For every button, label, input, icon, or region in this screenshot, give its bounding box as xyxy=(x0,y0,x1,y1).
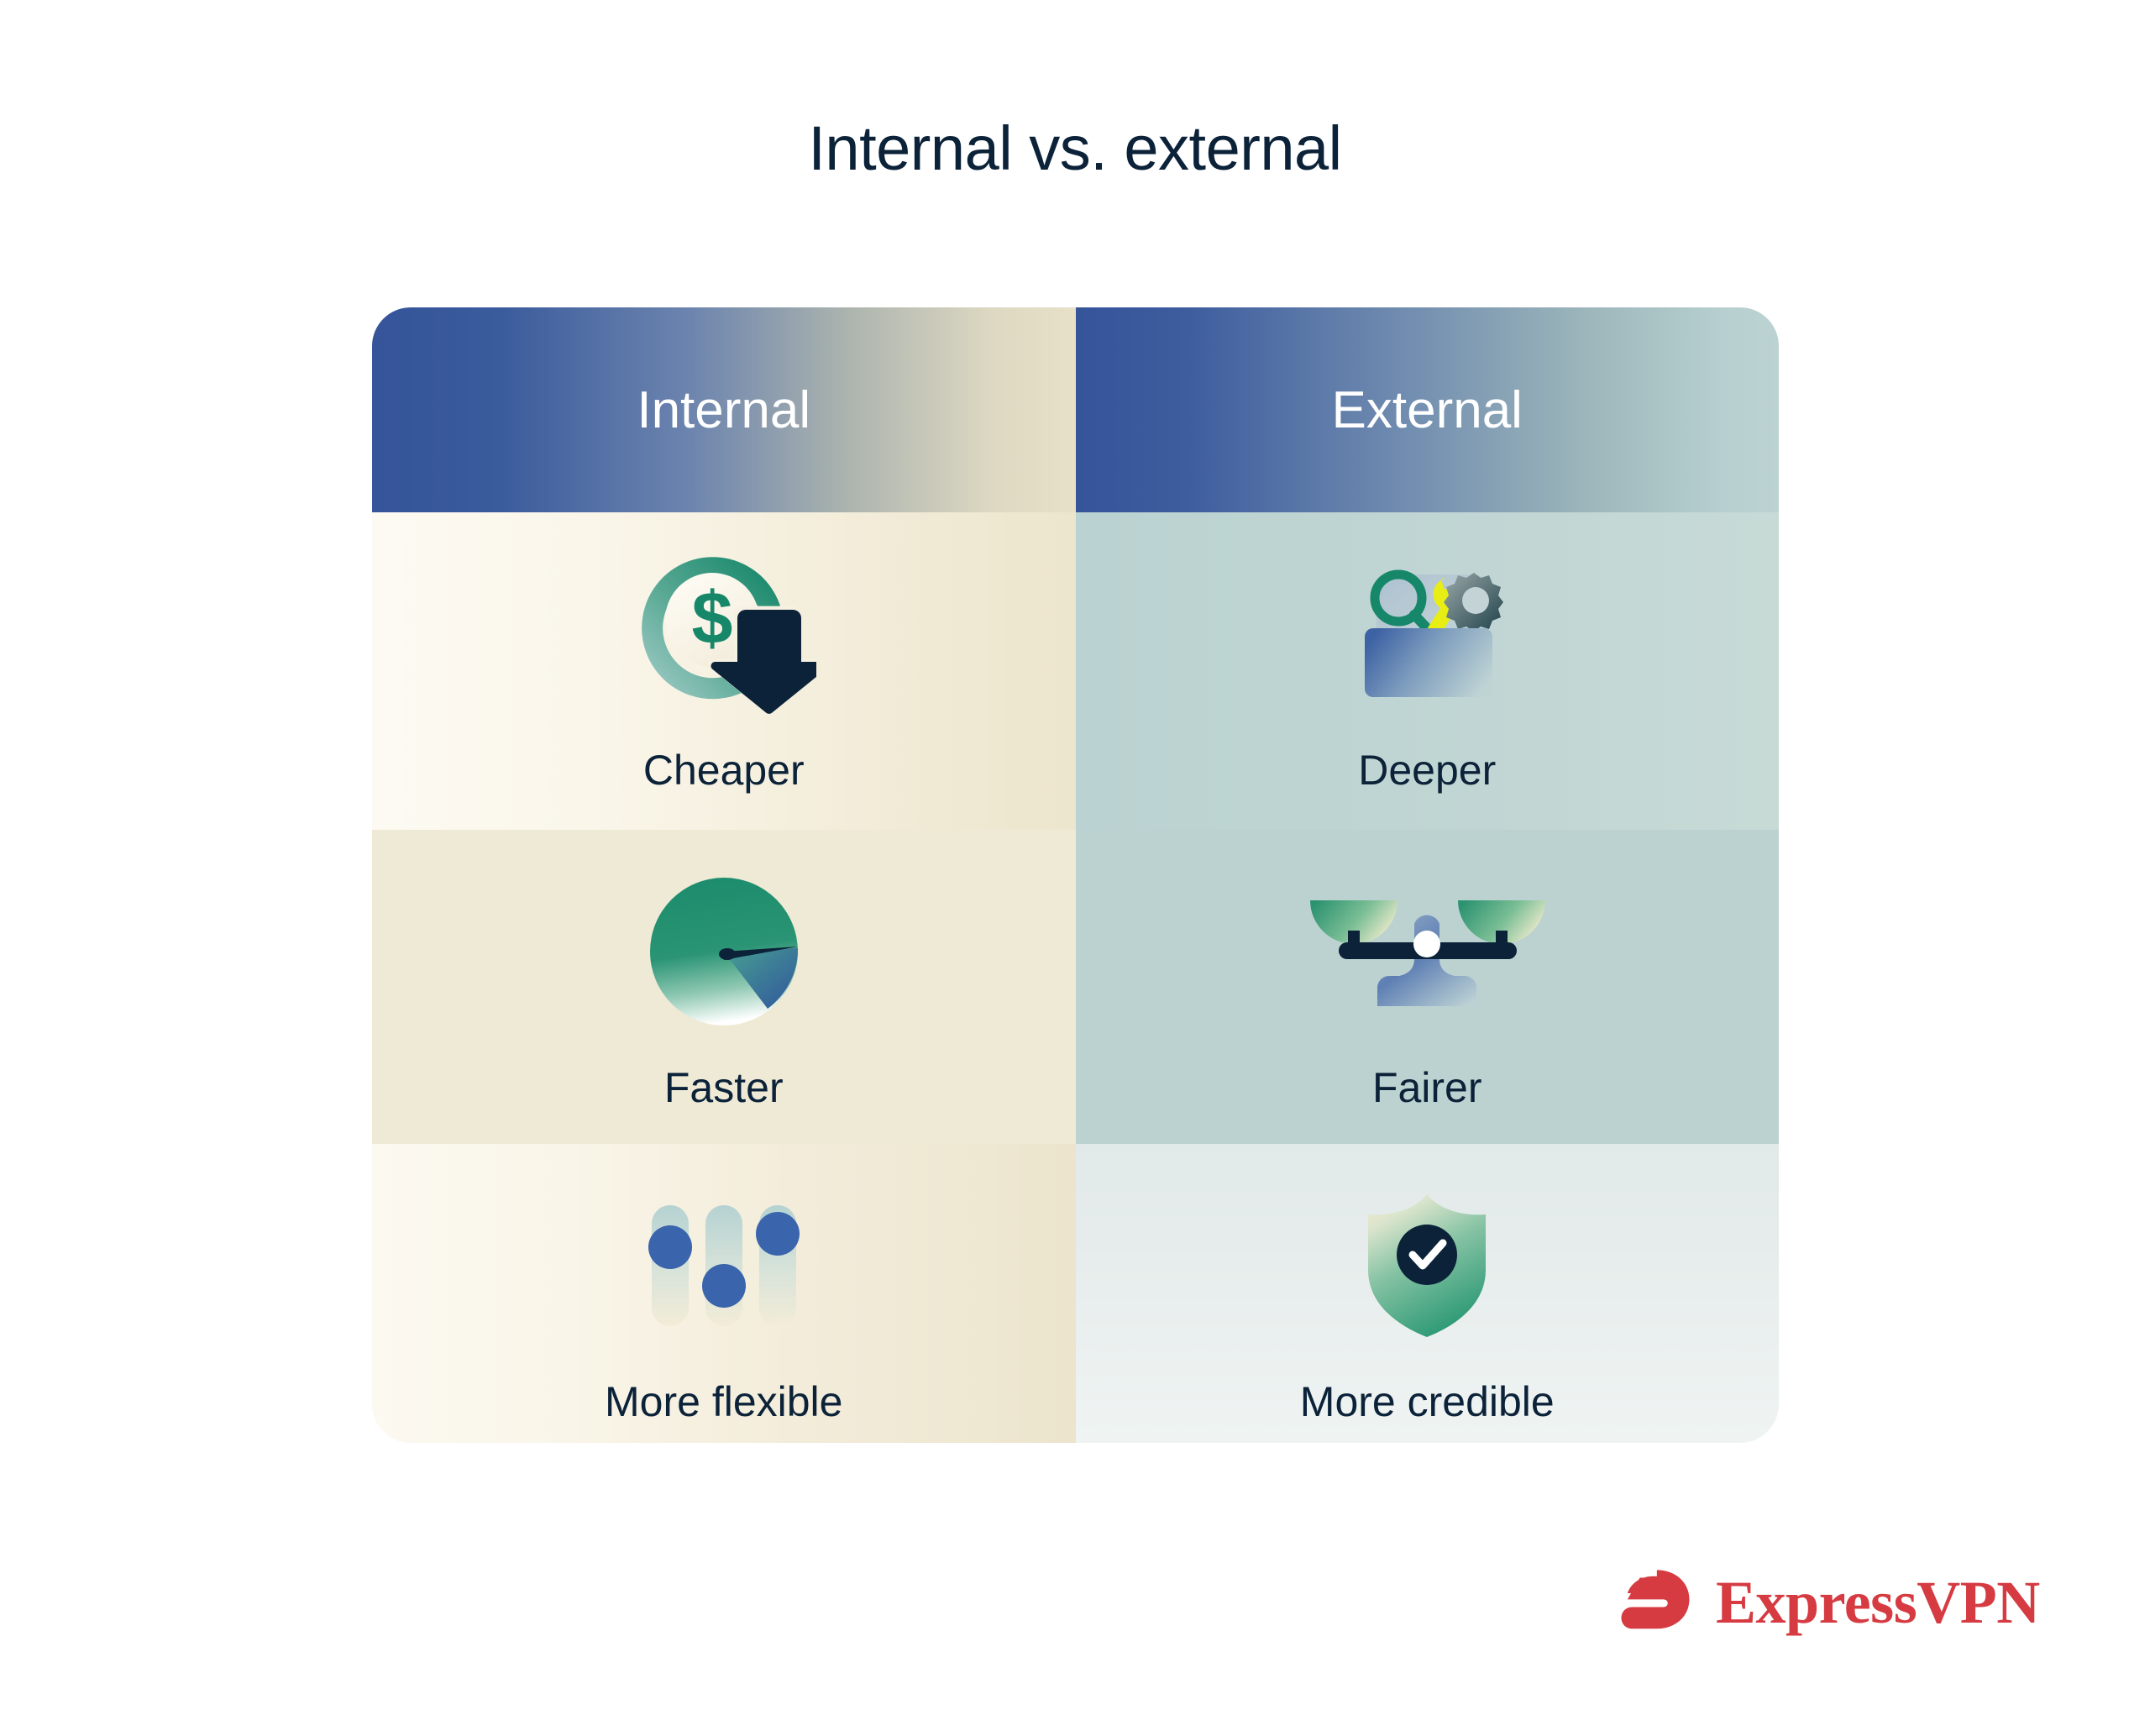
column-external: External xyxy=(1076,307,1780,1443)
cell-external-more-credible: More credible xyxy=(1076,1144,1780,1443)
cell-label: More flexible xyxy=(605,1381,842,1423)
cell-internal-faster: Faster xyxy=(372,830,1076,1144)
page-title: Internal vs. external xyxy=(0,118,2150,180)
expressvpn-logo: ExpressVPN xyxy=(1617,1564,2040,1641)
cell-label: Deeper xyxy=(1358,749,1496,791)
cell-label: Cheaper xyxy=(643,749,805,791)
sliders-icon xyxy=(640,1179,808,1352)
toolbox-icon xyxy=(1343,534,1511,729)
cell-external-deeper: Deeper xyxy=(1076,512,1780,830)
cell-label: Faster xyxy=(664,1067,784,1109)
expressvpn-wordmark: ExpressVPN xyxy=(1716,1572,2040,1633)
speedometer-gauge-icon xyxy=(640,858,808,1045)
money-down-arrow-icon: $ xyxy=(632,534,816,729)
balance-scales-icon xyxy=(1305,858,1549,1045)
column-internal: Internal xyxy=(372,307,1076,1443)
cell-label: More credible xyxy=(1300,1381,1555,1423)
cell-label: Fairer xyxy=(1372,1067,1482,1109)
expressvpn-logo-icon xyxy=(1617,1564,1694,1641)
column-header-external: External xyxy=(1076,307,1780,512)
column-header-internal: Internal xyxy=(372,307,1076,512)
cell-internal-cheaper: $ Cheaper xyxy=(372,512,1076,830)
svg-text:$: $ xyxy=(691,576,732,659)
cell-external-fairer: Fairer xyxy=(1076,830,1780,1144)
cell-internal-more-flexible: More flexible xyxy=(372,1144,1076,1443)
shield-check-icon xyxy=(1360,1179,1494,1352)
comparison-card: Internal xyxy=(372,307,1779,1443)
